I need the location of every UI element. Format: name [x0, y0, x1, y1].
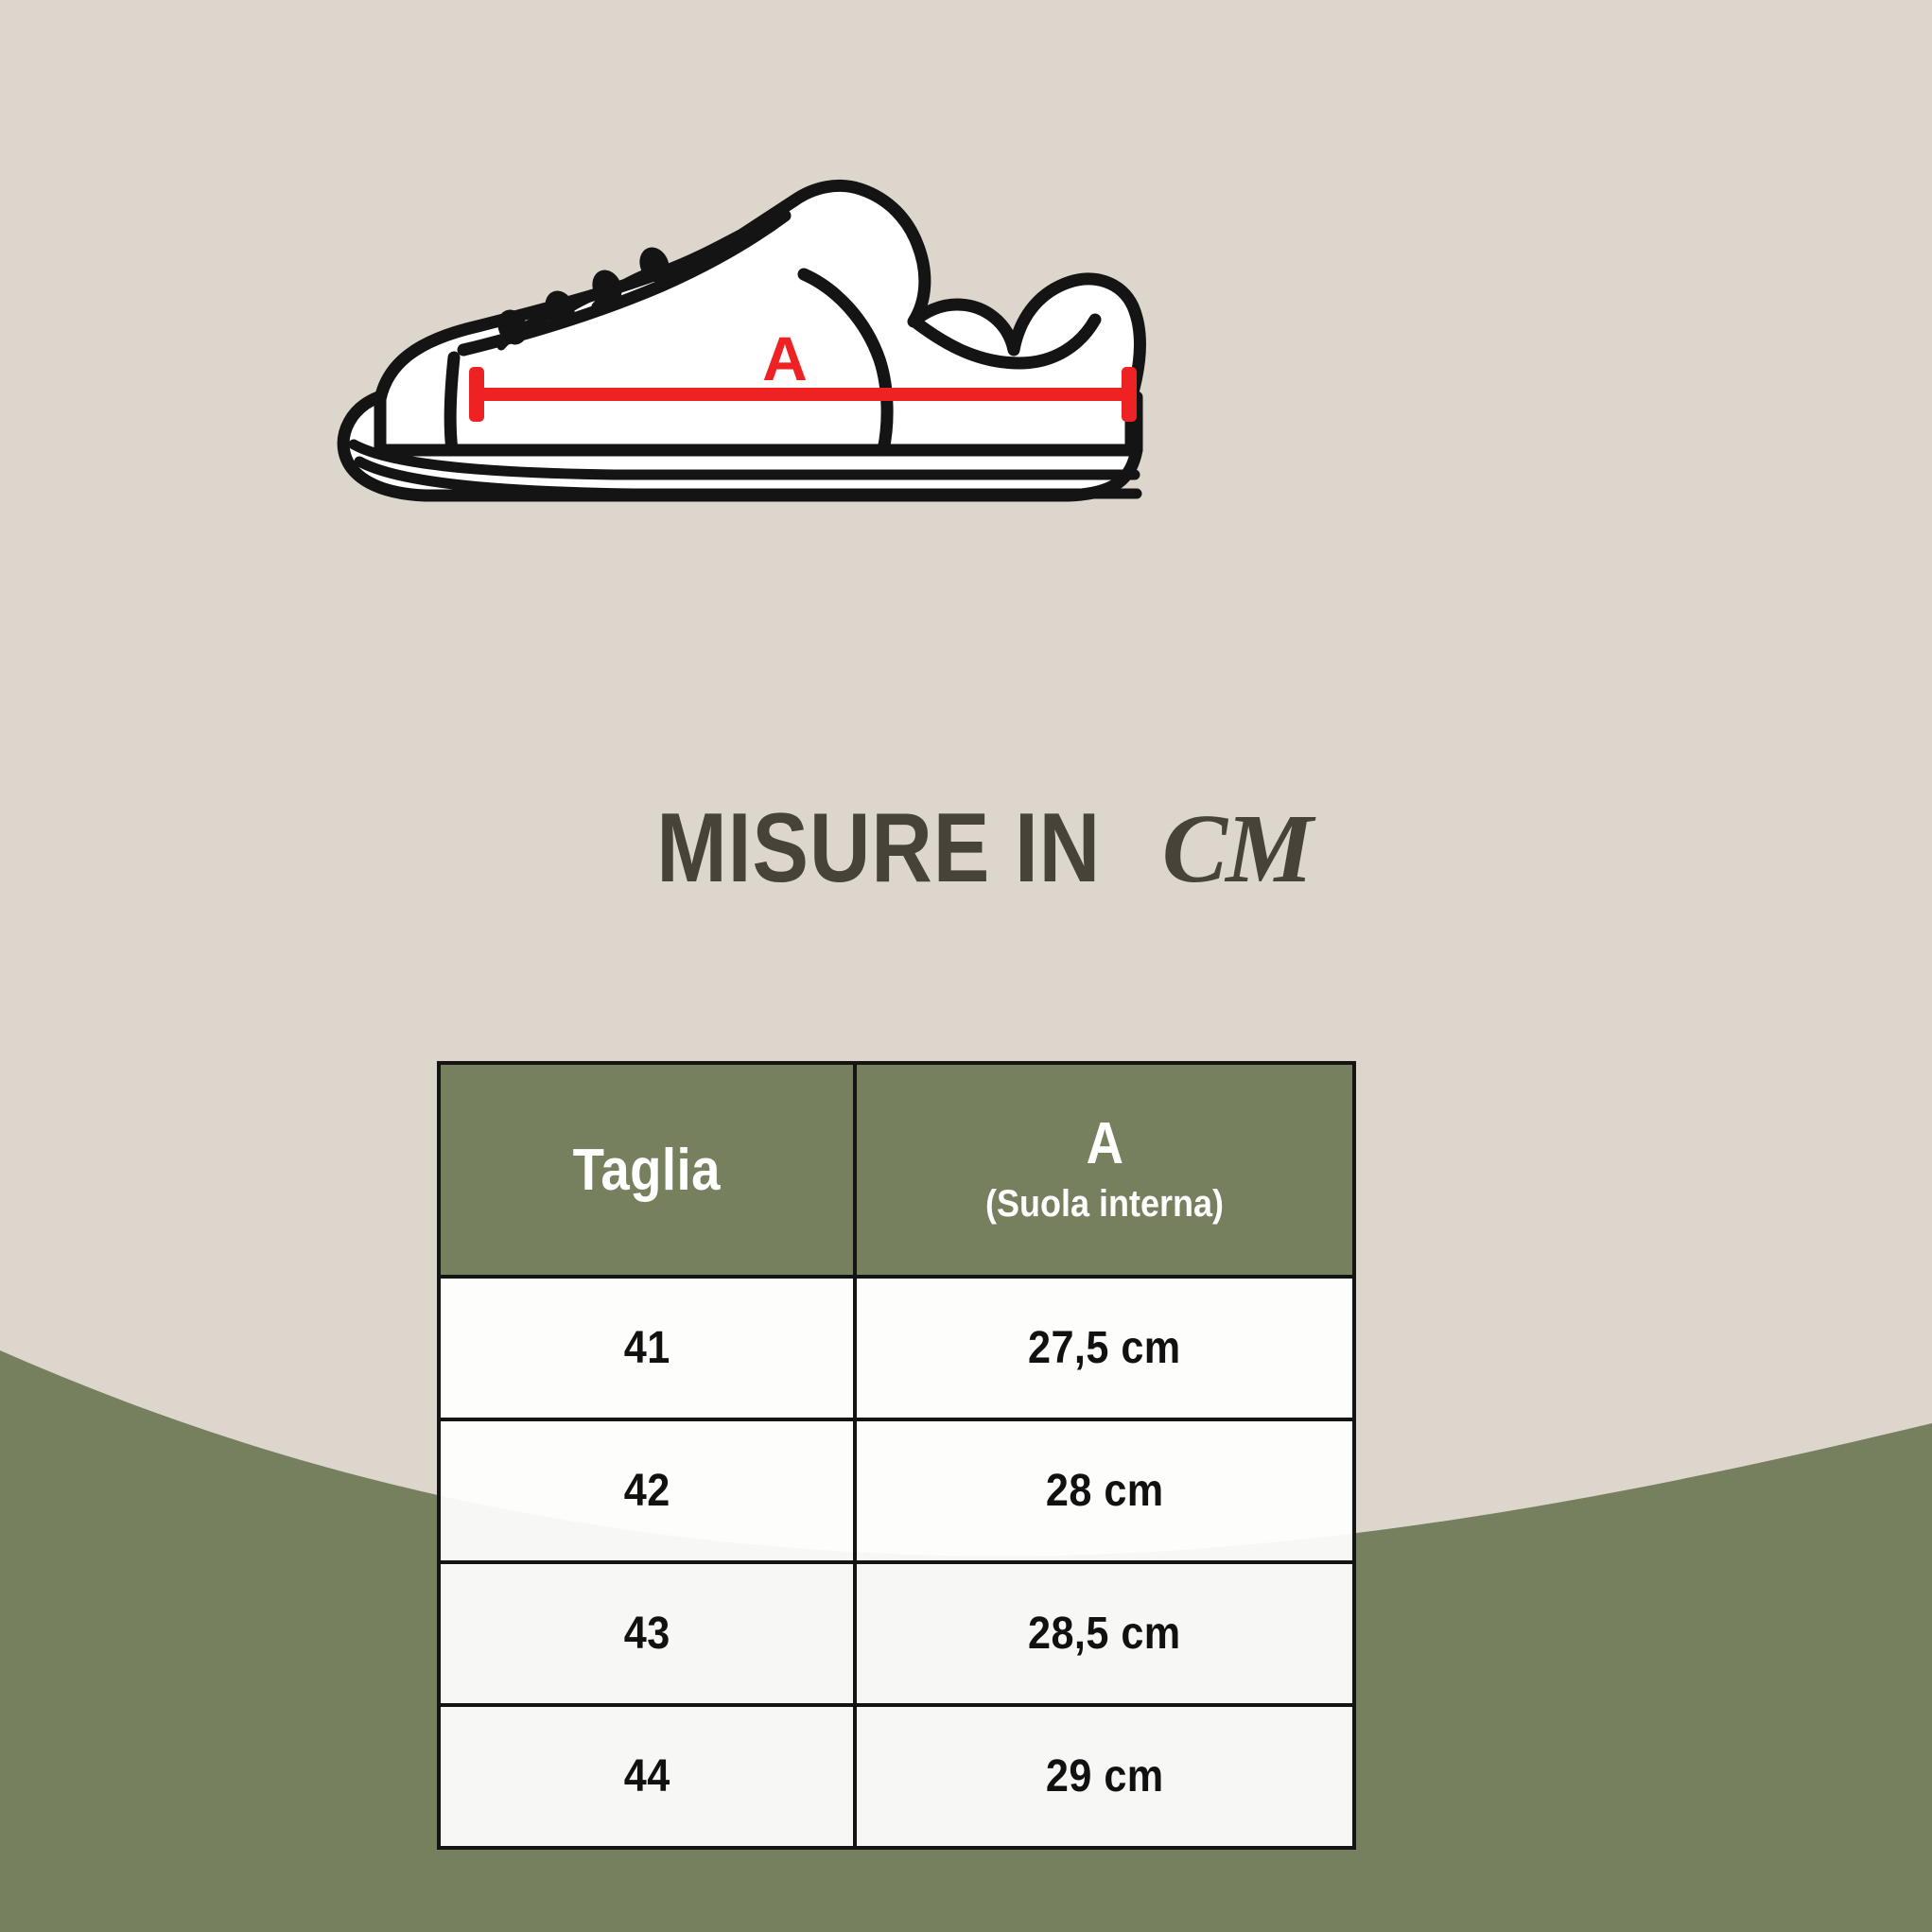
table-header-size: Taglia [439, 1063, 855, 1277]
measure-value: 29 cm [1046, 1750, 1164, 1802]
table-cell-size: 43 [439, 1562, 855, 1705]
sneaker-illustration: A [312, 161, 1428, 558]
table-cell-measure: 29 cm [855, 1705, 1354, 1848]
size-value: 44 [624, 1750, 670, 1802]
table-header-measure: A (Suola interna) [855, 1063, 1354, 1277]
sneaker-upper [380, 185, 1140, 450]
sneaker-outline [343, 185, 1140, 496]
size-value: 42 [624, 1465, 670, 1517]
table-cell-size: 42 [439, 1419, 855, 1562]
table-header-measure-label: A [1086, 1113, 1123, 1176]
measure-value: 27,5 cm [1028, 1322, 1181, 1374]
table-cell-size: 44 [439, 1705, 855, 1848]
sneaker-svg: A [312, 161, 1428, 558]
table-cell-measure: 28,5 cm [855, 1562, 1354, 1705]
table-row: 44 29 cm [439, 1705, 1354, 1848]
table-cell-measure: 28 cm [855, 1419, 1354, 1562]
toe-cap-seam [450, 357, 454, 450]
table-header-measure-sublabel: (Suola interna) [985, 1181, 1224, 1227]
table-row: 42 28 cm [439, 1419, 1354, 1562]
size-value: 41 [624, 1322, 670, 1374]
table-cell-size: 41 [439, 1277, 855, 1419]
measure-tick-right [1122, 367, 1137, 422]
page-title-unit: CM [1162, 792, 1312, 905]
table-row: 41 27,5 cm [439, 1277, 1354, 1419]
size-chart-table: Taglia A (Suola interna) 41 27,5 c [437, 1061, 1356, 1850]
measure-value: 28 cm [1046, 1465, 1164, 1517]
measure-label-a: A [762, 323, 808, 393]
table-row: 43 28,5 cm [439, 1562, 1354, 1705]
table-header-row: Taglia A (Suola interna) [439, 1063, 1354, 1277]
size-value: 43 [624, 1608, 670, 1660]
table-header-size-label: Taglia [573, 1137, 721, 1204]
size-chart-canvas: A MISURE INCM Taglia A (Suola interna) [0, 0, 1932, 1932]
page-title-main: MISURE IN [657, 792, 1102, 905]
measure-value: 28,5 cm [1028, 1608, 1181, 1660]
measure-tick-left [469, 367, 484, 422]
table-cell-measure: 27,5 cm [855, 1277, 1354, 1419]
page-title: MISURE INCM [0, 792, 1932, 905]
